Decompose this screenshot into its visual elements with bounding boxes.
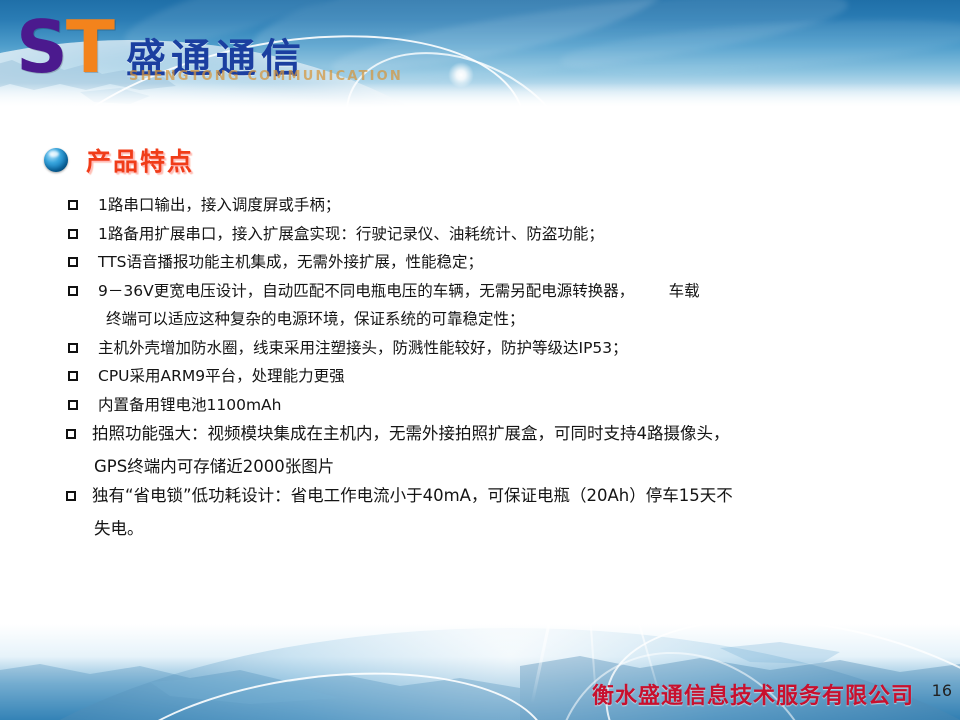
footer-banner: 衡水盛通信息技术服务有限公司 16: [0, 600, 960, 720]
list-item-line: TTS语音播报功能主机集成，无需外接扩展，性能稳定；: [98, 255, 960, 271]
list-item: CPU采用ARM9平台，处理能力更强: [0, 369, 960, 385]
square-bullet-icon: [68, 371, 78, 381]
list-item-line: CPU采用ARM9平台，处理能力更强: [98, 369, 960, 385]
square-bullet-icon: [68, 229, 78, 239]
square-bullet-icon: [68, 343, 78, 353]
list-item: 拍照功能强大：视频模块集成在主机内，无需外接拍照扩展盒，可同时支持4路摄像头， …: [0, 426, 960, 475]
logo-letter-s: S: [16, 5, 66, 89]
list-item: 内置备用锂电池1100mAh: [0, 398, 960, 414]
list-item-line: 内置备用锂电池1100mAh: [98, 398, 960, 414]
square-bullet-icon: [68, 400, 78, 410]
list-item: 主机外壳增加防水圈，线束采用注塑接头，防溅性能较好，防护等级达IP53；: [0, 341, 960, 357]
list-item-line: 终端可以适应这种复杂的电源环境，保证系统的可靠稳定性；: [98, 312, 960, 328]
company-logo[interactable]: ST 盛通通信 SHENGTONG COMMUNICATION: [16, 12, 113, 92]
list-item-line: 9－36V更宽电压设计，自动匹配不同电瓶电压的车辆，无需另配电源转换器， 车载: [98, 284, 960, 300]
list-item: 独有“省电锁”低功耗设计：省电工作电流小于40mA，可保证电瓶（20Ah）停车1…: [0, 488, 960, 537]
sphere-bullet-icon: [44, 148, 68, 172]
list-item-line: 独有“省电锁”低功耗设计：省电工作电流小于40mA，可保证电瓶（20Ah）停车1…: [92, 488, 960, 505]
slide-title: 产品特点: [44, 142, 194, 178]
list-item-line: 主机外壳增加防水圈，线束采用注塑接头，防溅性能较好，防护等级达IP53；: [98, 341, 960, 357]
page-number: 16: [932, 681, 952, 700]
square-bullet-icon: [66, 429, 76, 439]
list-item-line: 拍照功能强大：视频模块集成在主机内，无需外接拍照扩展盒，可同时支持4路摄像头，: [92, 426, 960, 443]
list-item-line: 1路备用扩展串口，接入扩展盒实现：行驶记录仪、油耗统计、防盗功能；: [98, 227, 960, 243]
list-item-line: GPS终端内可存储近2000张图片: [92, 459, 960, 476]
page-title: 产品特点: [86, 142, 194, 178]
bullet-list: 1路串口输出，接入调度屏或手柄； 1路备用扩展串口，接入扩展盒实现：行驶记录仪、…: [0, 198, 960, 550]
square-bullet-icon: [68, 257, 78, 267]
logo-mark: ST: [16, 12, 113, 82]
square-bullet-icon: [66, 491, 76, 501]
logo-company-en: SHENGTONG COMMUNICATION: [129, 69, 403, 84]
slide: ST 盛通通信 SHENGTONG COMMUNICATION 产品特点 1路串…: [0, 0, 960, 720]
list-item: 9－36V更宽电压设计，自动匹配不同电瓶电压的车辆，无需另配电源转换器， 车载 …: [0, 284, 960, 328]
square-bullet-icon: [68, 200, 78, 210]
list-item: 1路串口输出，接入调度屏或手柄；: [0, 198, 960, 214]
banner-fade: [0, 83, 960, 109]
footer-company-name: 衡水盛通信息技术服务有限公司: [592, 678, 914, 710]
list-item: 1路备用扩展串口，接入扩展盒实现：行驶记录仪、油耗统计、防盗功能；: [0, 227, 960, 243]
list-item: TTS语音播报功能主机集成，无需外接扩展，性能稳定；: [0, 255, 960, 271]
list-item-line: 失电。: [92, 521, 960, 538]
square-bullet-icon: [68, 286, 78, 296]
list-item-line: 1路串口输出，接入调度屏或手柄；: [98, 198, 960, 214]
logo-letter-t: T: [66, 5, 113, 89]
